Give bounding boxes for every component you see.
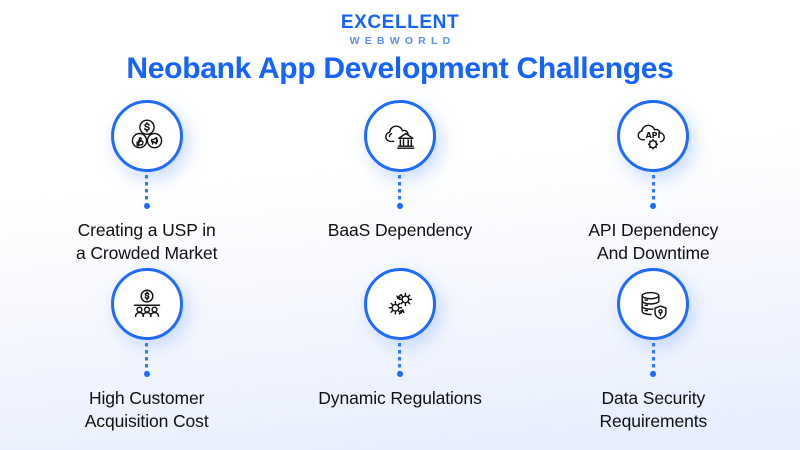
challenge-label-3-line2: And Downtime <box>588 242 718 265</box>
connector-dot-2 <box>397 203 403 209</box>
svg-text:API: API <box>646 131 661 140</box>
usp-coin-thumbsup-megaphone-icon <box>127 116 167 156</box>
cloud-bank-icon <box>380 116 420 156</box>
challenge-label-5-line1: Dynamic Regulations <box>318 387 481 410</box>
challenge-label-4-line2: Acquisition Cost <box>85 410 209 433</box>
challenge-label-2-line1: BaaS Dependency <box>328 219 472 242</box>
connector-dot-6 <box>650 371 656 377</box>
badge-wrapper-2 <box>364 100 436 172</box>
challenge-label-1: Creating a USP in a Crowded Market <box>76 219 217 265</box>
challenge-label-3-line1: API Dependency <box>588 219 718 242</box>
challenge-label-3: API Dependency And Downtime <box>588 219 718 265</box>
badge-circle-3: API <box>617 100 689 172</box>
coin-over-people-icon <box>127 284 167 324</box>
brand-logo: EXCELLENT WEBWORLD <box>0 13 800 47</box>
badge-circle-2 <box>364 100 436 172</box>
cloud-api-gear-icon: API <box>633 116 673 156</box>
badge-circle-1 <box>111 100 183 172</box>
connector-line-4 <box>145 343 148 375</box>
challenge-label-2: BaaS Dependency <box>328 219 472 242</box>
badge-circle-5 <box>364 268 436 340</box>
badge-circle-4 <box>111 268 183 340</box>
challenge-label-6-line1: Data Security <box>599 387 707 410</box>
challenge-item-2: BaaS Dependency <box>273 100 526 268</box>
page-title: Neobank App Development Challenges <box>0 52 800 86</box>
gears-arrows-icon <box>380 284 420 324</box>
challenge-item-6: Data Security Requirements <box>527 268 780 436</box>
badge-wrapper-1 <box>111 100 183 172</box>
challenge-item-4: High Customer Acquisition Cost <box>20 268 273 436</box>
challenge-item-1: Creating a USP in a Crowded Market <box>20 100 273 268</box>
badge-wrapper-3: API <box>617 100 689 172</box>
connector-line-1 <box>145 175 148 207</box>
badge-wrapper-6 <box>617 268 689 340</box>
badge-circle-6 <box>617 268 689 340</box>
challenge-label-6: Data Security Requirements <box>599 387 707 433</box>
brand-name-primary: EXCELLENT <box>0 13 800 32</box>
badge-wrapper-4 <box>111 268 183 340</box>
challenge-label-6-line2: Requirements <box>599 410 707 433</box>
badge-wrapper-5 <box>364 268 436 340</box>
connector-line-2 <box>398 175 401 207</box>
connector-line-6 <box>652 343 655 375</box>
challenge-label-1-line1: Creating a USP in <box>76 219 217 242</box>
challenge-label-4-line1: High Customer <box>85 387 209 410</box>
challenges-grid: Creating a USP in a Crowded Market <box>20 100 780 436</box>
database-shield-lock-icon <box>633 284 673 324</box>
connector-dot-3 <box>650 203 656 209</box>
challenge-label-1-line2: a Crowded Market <box>76 242 217 265</box>
connector-dot-5 <box>397 371 403 377</box>
connector-line-3 <box>652 175 655 207</box>
infographic-canvas: EXCELLENT WEBWORLD Neobank App Developme… <box>0 0 800 450</box>
connector-dot-1 <box>144 203 150 209</box>
challenge-label-5: Dynamic Regulations <box>318 387 481 410</box>
connector-line-5 <box>398 343 401 375</box>
challenge-label-4: High Customer Acquisition Cost <box>85 387 209 433</box>
connector-dot-4 <box>144 371 150 377</box>
challenge-item-3: API API Dependency And Downtime <box>527 100 780 268</box>
brand-name-secondary: WEBWORLD <box>0 36 800 47</box>
challenge-item-5: Dynamic Regulations <box>273 268 526 436</box>
